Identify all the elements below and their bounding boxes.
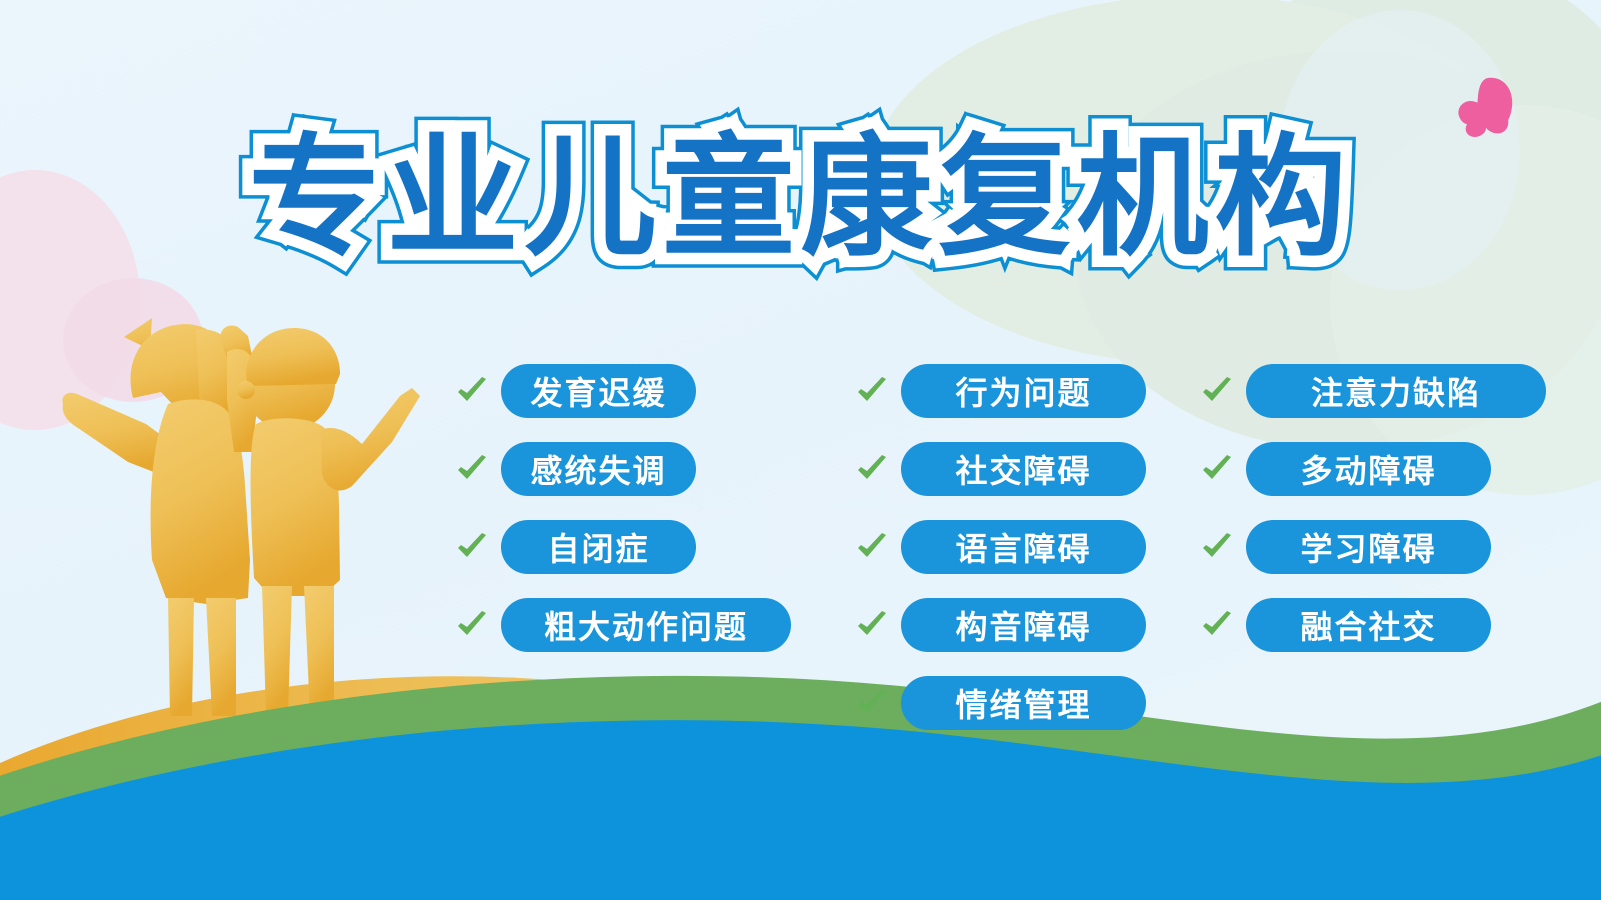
badge-label[interactable]: 语言障碍	[901, 520, 1146, 574]
badge-item[interactable]: 构音障碍	[855, 586, 1146, 664]
check-icon	[455, 608, 489, 642]
badge-item[interactable]: 情绪管理	[855, 664, 1146, 742]
check-icon	[455, 374, 489, 408]
check-icon	[455, 530, 489, 564]
check-icon	[1200, 608, 1234, 642]
badge-label[interactable]: 多动障碍	[1246, 442, 1491, 496]
service-badge-grid: 发育迟缓 感统失调 自闭症 粗大动作问题	[455, 352, 1555, 752]
check-icon	[855, 608, 889, 642]
check-icon	[855, 686, 889, 720]
badge-label[interactable]: 情绪管理	[901, 676, 1146, 730]
check-icon	[855, 452, 889, 486]
badge-item[interactable]: 学习障碍	[1200, 508, 1546, 586]
badge-item[interactable]: 社交障碍	[855, 430, 1146, 508]
badge-item[interactable]: 多动障碍	[1200, 430, 1546, 508]
check-icon	[1200, 374, 1234, 408]
badge-label[interactable]: 社交障碍	[901, 442, 1146, 496]
badge-label[interactable]: 融合社交	[1246, 598, 1491, 652]
promotional-banner: 专业儿童康复机构 专业儿童康复机构 专业儿童康复机构 发育迟缓 感统失调	[0, 0, 1601, 900]
badge-label[interactable]: 自闭症	[501, 520, 696, 574]
badge-column-3: 注意力缺陷 多动障碍 学习障碍 融合社交	[1200, 352, 1546, 664]
badge-label[interactable]: 注意力缺陷	[1246, 364, 1546, 418]
check-icon	[455, 452, 489, 486]
badge-item[interactable]: 粗大动作问题	[455, 586, 791, 664]
check-icon	[855, 374, 889, 408]
badge-item[interactable]: 语言障碍	[855, 508, 1146, 586]
badge-item[interactable]: 注意力缺陷	[1200, 352, 1546, 430]
badge-column-1: 发育迟缓 感统失调 自闭症 粗大动作问题	[455, 352, 791, 664]
badge-item[interactable]: 行为问题	[855, 352, 1146, 430]
check-icon	[1200, 452, 1234, 486]
badge-label[interactable]: 粗大动作问题	[501, 598, 791, 652]
badge-label[interactable]: 构音障碍	[901, 598, 1146, 652]
badge-label[interactable]: 感统失调	[501, 442, 696, 496]
badge-item[interactable]: 自闭症	[455, 508, 791, 586]
badge-label[interactable]: 行为问题	[901, 364, 1146, 418]
check-icon	[1200, 530, 1234, 564]
check-icon	[855, 530, 889, 564]
badge-column-2: 行为问题 社交障碍 语言障碍 构音障碍	[855, 352, 1146, 742]
badge-label[interactable]: 学习障碍	[1246, 520, 1491, 574]
badge-item[interactable]: 感统失调	[455, 430, 791, 508]
badge-label[interactable]: 发育迟缓	[501, 364, 696, 418]
badge-item[interactable]: 发育迟缓	[455, 352, 791, 430]
badge-item[interactable]: 融合社交	[1200, 586, 1546, 664]
